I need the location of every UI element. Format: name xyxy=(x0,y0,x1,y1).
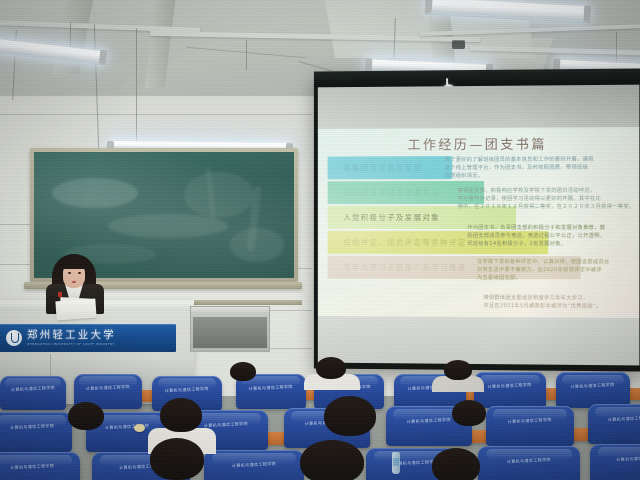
slide-bar: 收集团员信息及管理 xyxy=(328,156,452,179)
audience-head xyxy=(230,362,256,381)
slide-paragraph: 为了更好的了解班级团员的基本信息和工作的更好开展，通用 这个线上管理平台，作为团… xyxy=(445,155,639,180)
seat[interactable]: 计算机与通信工程学院 xyxy=(478,446,580,480)
seat[interactable]: 计算机与通信工程学院 xyxy=(588,404,640,444)
slide-bar-label: 综绩评定、团员评定等各种评定 xyxy=(328,237,467,248)
audience-head xyxy=(324,396,376,436)
presenter-bangs xyxy=(60,256,88,269)
seat[interactable]: 计算机与通信工程学院 xyxy=(0,412,72,452)
presenter-eye xyxy=(78,272,81,274)
slide-bar-label: 青年大学习主题推广及学习推进 xyxy=(328,261,467,272)
audience-head xyxy=(160,398,202,432)
slide: 工作经历—团支书篇 收集团员信息及管理 组织团日活动及团课学习 xyxy=(318,127,640,318)
presenter-mouth xyxy=(72,281,76,283)
audience-head xyxy=(452,400,486,426)
classroom-photo: 工作经历—团支书篇 收集团员信息及管理 组织团日活动及团课学习 xyxy=(0,0,640,480)
slide-paragraph: 带领团支部，积极响应学校及学院下发的团日活动呼应， 学分者作为记录，使团学习活动… xyxy=(458,186,640,211)
seat[interactable]: 计算机与通信工程学院 xyxy=(204,450,304,480)
lamp-wire xyxy=(136,28,137,148)
projection-screen: 工作经历—团支书篇 收集团员信息及管理 组织团日活动及团课学习 xyxy=(314,68,640,371)
ceiling-sensor-icon xyxy=(452,40,465,49)
presenter xyxy=(38,252,112,314)
university-crest-icon xyxy=(6,330,22,346)
audience-head xyxy=(300,440,364,480)
ceiling-beam xyxy=(145,0,176,88)
university-name-chinese: 郑州轻工业大学 xyxy=(27,330,116,341)
university-banner: 郑州轻工业大学 ZHENGZHOU UNIVERSITY OF LIGHT IN… xyxy=(0,324,176,352)
slide-paragraph: 在学院下发的各种评定中，认真对待，使团支部成员在 日常生活中更不懈努力，在202… xyxy=(477,258,639,283)
water-bottle xyxy=(392,452,400,474)
slide-bar-label: 入党积极分子及发展对象 xyxy=(328,212,440,223)
seat[interactable]: 计算机与通信工程学院 xyxy=(474,372,546,408)
audience-head xyxy=(150,438,204,480)
slide-paragraph: 作为团支书，负责团支部的积极分子和发展对象推荐，鼓 励团支部成员参与竞选，竞选过… xyxy=(467,224,639,248)
lamp-wire xyxy=(616,32,617,66)
audience-head xyxy=(432,448,480,480)
side-desk-unit xyxy=(190,306,270,352)
university-name-english: ZHENGZHOU UNIVERSITY OF LIGHT INDUSTRY xyxy=(27,342,116,346)
seat[interactable]: 计算机与通信工程学院 xyxy=(0,376,66,410)
slide-paragraph: 带领群体团支部成员制度学习青年大学习， 并且在2021年5月被表彰学被评为“优秀… xyxy=(483,294,639,311)
slide-title: 工作经历—团支书篇 xyxy=(318,133,640,154)
lamp-wire xyxy=(246,40,247,70)
seat[interactable]: 计算机与通信工程学院 xyxy=(0,452,80,480)
slide-bar-label: 组织团日活动及团课学习 xyxy=(328,187,440,198)
audience-head xyxy=(68,402,104,430)
screen-lower-blank-area xyxy=(318,316,640,366)
audience-head xyxy=(444,360,472,380)
lamp-wire xyxy=(70,22,71,48)
seat[interactable]: 计算机与通信工程学院 xyxy=(556,372,630,408)
presenter-eye xyxy=(68,272,71,274)
screen-blank-area xyxy=(318,85,640,129)
seat[interactable]: 计算机与通信工程学院 xyxy=(590,444,640,480)
screen-surface: 工作经历—团支书篇 收集团员信息及管理 组织团日活动及团课学习 xyxy=(318,85,640,366)
slide-bar-label: 收集团员信息及管理 xyxy=(328,162,423,173)
seat[interactable]: 计算机与通信工程学院 xyxy=(486,406,574,446)
presenter-notes xyxy=(55,299,96,321)
audience-head xyxy=(316,357,346,379)
hair-bow xyxy=(134,424,145,432)
